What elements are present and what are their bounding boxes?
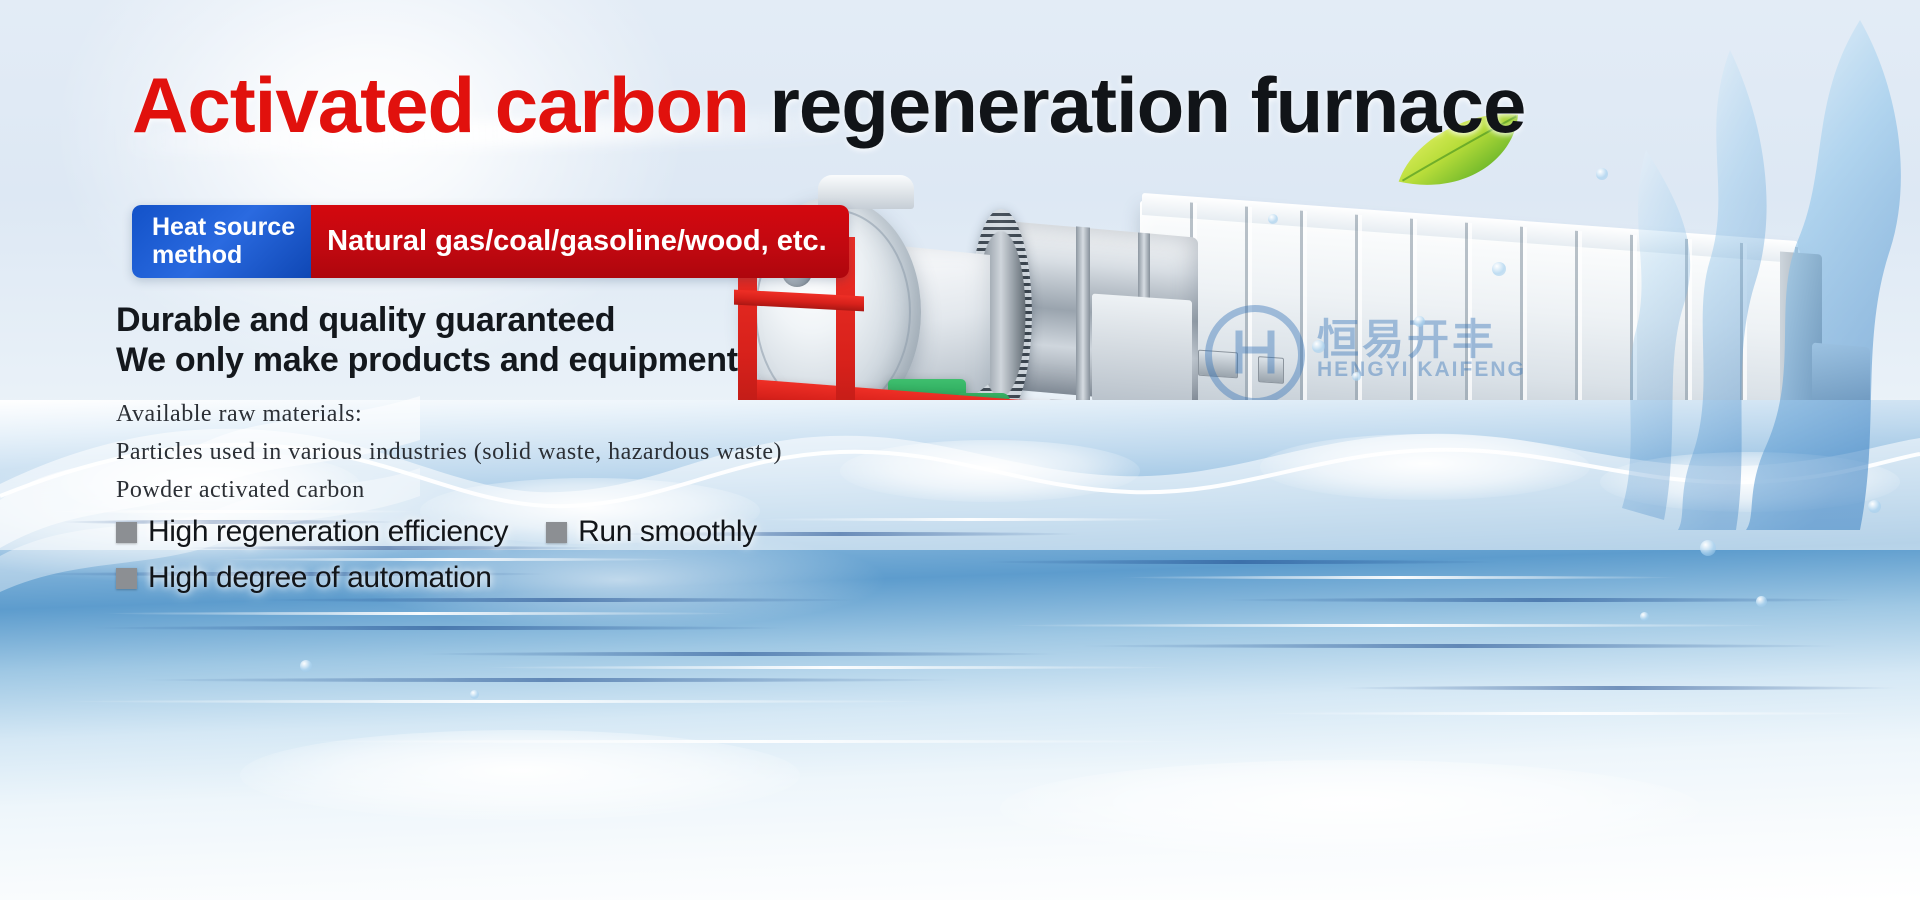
water-droplet (1414, 316, 1425, 327)
watermark-english-name: HENGYI KAIFENG (1317, 358, 1526, 382)
water-foam (240, 730, 800, 820)
water-ripple (140, 678, 960, 682)
feature-label: High regeneration efficiency (148, 515, 508, 549)
water-highlight (760, 518, 1180, 521)
headline: Durable and quality guaranteed We only m… (116, 300, 738, 380)
page-title: Activated carbon regeneration furnace (132, 60, 1525, 151)
water-droplet (1596, 168, 1608, 180)
heat-source-value: Natural gas/coal/gasoline/wood, etc. (311, 205, 849, 278)
burner-housing (1092, 294, 1192, 409)
title-rest: regeneration furnace (770, 61, 1526, 149)
raw-materials-heading: Available raw materials: (116, 395, 782, 433)
raw-materials-item: Powder activated carbon (116, 471, 782, 509)
square-bullet-icon (116, 522, 137, 543)
heat-source-badge: Heat source method Natural gas/coal/gaso… (132, 205, 849, 278)
water-droplet (1492, 262, 1506, 276)
water-droplet (300, 660, 312, 672)
feature-label: High degree of automation (148, 561, 492, 595)
water-droplet (1268, 214, 1278, 224)
feature-list: High regeneration efficiency Run smoothl… (116, 515, 776, 607)
water-droplet (1868, 500, 1881, 513)
headline-line2: We only make products and equipment (116, 340, 738, 380)
exhaust-duct (818, 175, 914, 209)
water-highlight (1000, 624, 1780, 627)
water-highlight (1120, 576, 1680, 579)
feature-row: High degree of automation (116, 561, 776, 595)
water-droplet (1756, 596, 1767, 607)
water-ripple (980, 560, 1500, 564)
drum-band (1076, 226, 1090, 403)
watermark-h-icon (1231, 328, 1279, 376)
square-bullet-icon (116, 568, 137, 589)
water-foam (1260, 434, 1590, 500)
heat-source-label-line2: method (152, 241, 295, 269)
feature-item: Run smoothly (546, 515, 757, 549)
feature-item: High degree of automation (116, 561, 492, 595)
water-droplet (1312, 340, 1325, 353)
water-ripple (1340, 686, 1900, 690)
water-foam (840, 440, 1140, 502)
feature-row: High regeneration efficiency Run smoothl… (116, 515, 776, 549)
feature-item: High regeneration efficiency (116, 515, 508, 549)
square-bullet-icon (546, 522, 567, 543)
title-highlight: Activated carbon (132, 61, 749, 149)
heat-source-label-line1: Heat source (152, 213, 295, 241)
heat-source-label: Heat source method (132, 205, 311, 278)
raw-materials-item: Particles used in various industries (so… (116, 433, 782, 471)
water-droplet (1640, 612, 1649, 621)
water-ripple (1080, 644, 1840, 648)
headline-line1: Durable and quality guaranteed (116, 300, 738, 340)
water-highlight (1260, 712, 1880, 715)
water-highlight (480, 666, 1180, 669)
water-droplet (1352, 372, 1361, 381)
raw-materials-block: Available raw materials: Particles used … (116, 395, 782, 509)
water-highlight (60, 700, 940, 703)
water-droplet (1700, 540, 1716, 556)
water-droplet (470, 690, 479, 699)
water-foam (1000, 760, 1700, 856)
product-banner: 恒易开丰 HENGYI KAIFENG (0, 0, 1920, 900)
right-water-splash (1560, 10, 1920, 530)
water-ripple (420, 652, 1060, 656)
feature-label: Run smoothly (578, 515, 757, 549)
